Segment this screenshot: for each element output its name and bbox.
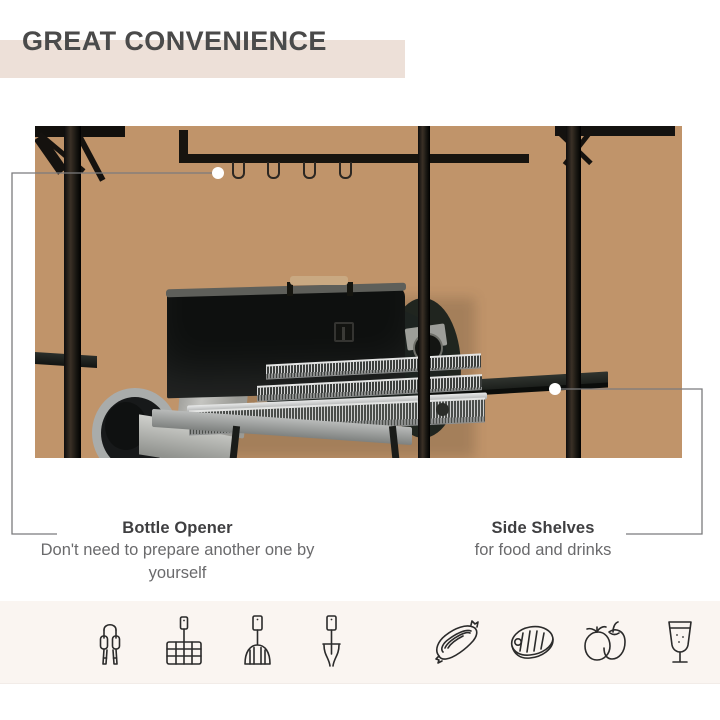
product-photo xyxy=(35,126,682,458)
icon-strip xyxy=(0,601,720,683)
callout-side-shelves: Side Shelves for food and drinks xyxy=(378,517,708,562)
lid-latch xyxy=(334,322,354,342)
callout-subtitle: Don't need to prepare another one by you… xyxy=(10,539,345,585)
strip-divider xyxy=(0,683,720,684)
utensil-hook-icon xyxy=(303,162,316,179)
icon-group-food xyxy=(432,613,706,671)
gazebo-post xyxy=(418,126,430,458)
callout-bottle-opener: Bottle Opener Don't need to prepare anot… xyxy=(10,517,345,585)
page-title: GREAT CONVENIENCE xyxy=(22,26,327,57)
spatula-icon xyxy=(232,613,284,671)
grill-basket-icon xyxy=(158,613,210,671)
icon-group-utensils xyxy=(84,613,358,671)
grill-knob xyxy=(436,403,449,416)
gazebo-post xyxy=(64,126,81,458)
wooden-handle xyxy=(290,276,348,285)
utensil-hook-icon xyxy=(267,162,280,179)
utensil-hook-icon xyxy=(232,162,245,179)
callout-title: Side Shelves xyxy=(378,517,708,539)
page-root: GREAT CONVENIENCE xyxy=(0,0,720,720)
steak-icon xyxy=(506,613,558,671)
photo-scene xyxy=(35,126,682,458)
bbq-tongs-icon xyxy=(84,613,136,671)
hot-dog-icon xyxy=(432,613,484,671)
utensil-hook-icon xyxy=(339,162,352,179)
vegetables-icon xyxy=(580,613,632,671)
callout-title: Bottle Opener xyxy=(10,517,345,539)
callout-subtitle: for food and drinks xyxy=(378,539,708,562)
lid-handle-bracket xyxy=(347,282,353,296)
gazebo-post xyxy=(566,126,581,458)
beer-glass-icon xyxy=(654,613,706,671)
carving-fork-icon xyxy=(306,613,358,671)
